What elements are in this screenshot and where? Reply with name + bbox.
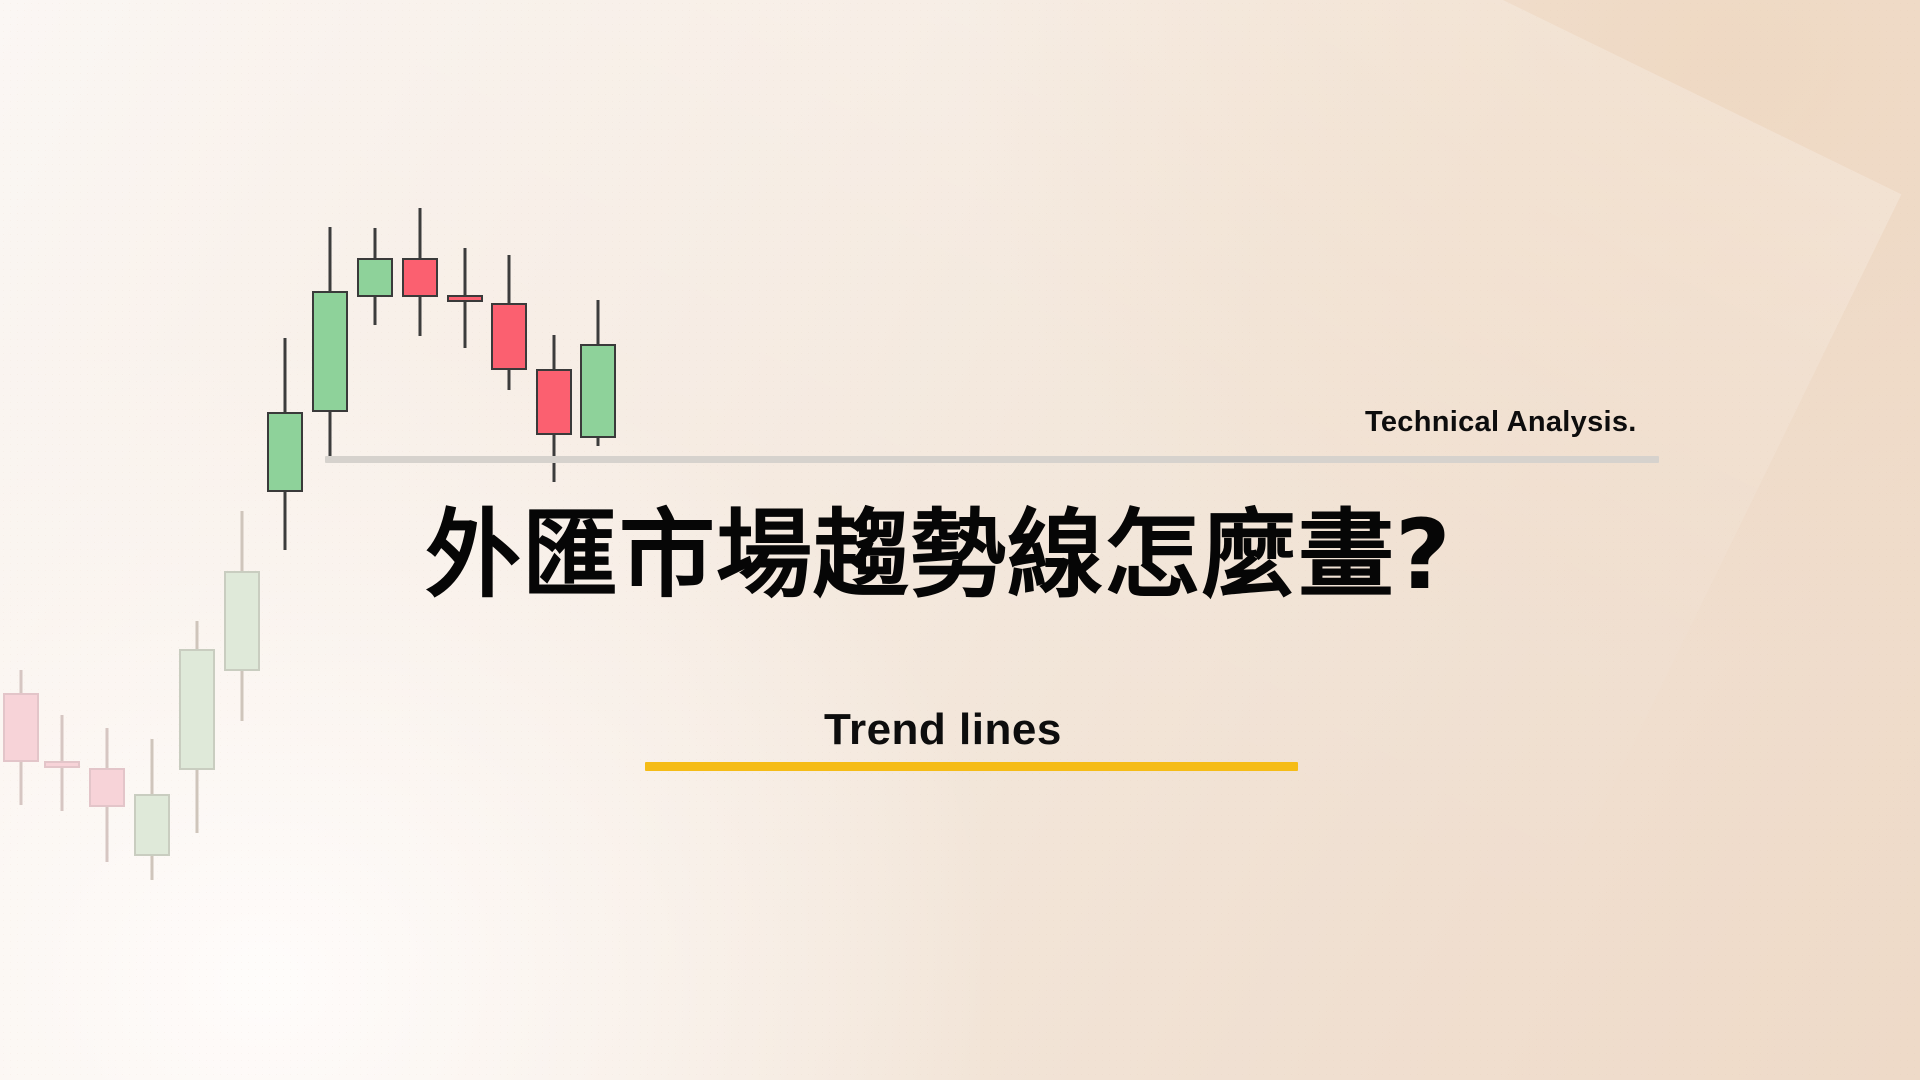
subtitle-underline [645,762,1298,771]
banner-canvas: Technical Analysis. 外匯市場趨勢線怎麼畫? Trend li… [0,0,1920,1080]
page-title: 外匯市場趨勢線怎麼畫? [425,504,1452,608]
support-trend-line [325,456,1659,463]
eyebrow-label: Technical Analysis. [1365,406,1637,439]
subtitle: Trend lines [824,705,1062,755]
